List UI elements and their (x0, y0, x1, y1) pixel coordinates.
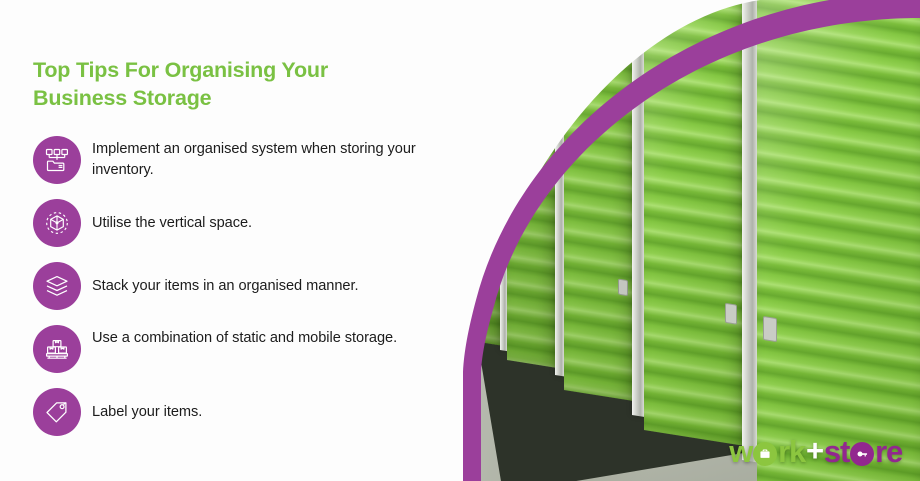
infographic-banner: Top Tips For Organising Your Business St… (0, 0, 920, 481)
work-store-logo[interactable]: w rk + st re (729, 436, 902, 467)
storage-units-photo (470, 0, 920, 481)
door-frame (500, 0, 507, 351)
tips-list: Implement an organised system when stori… (33, 136, 473, 451)
photo-canvas (470, 0, 920, 481)
stacked-layers-icon (33, 262, 81, 310)
roller-door (507, 0, 555, 368)
logo-work-w: w (729, 436, 752, 467)
list-item-label: Stack your items in an organised manner. (92, 276, 359, 297)
key-icon (850, 442, 874, 466)
content-panel: Top Tips For Organising Your Business St… (0, 0, 480, 481)
list-item-label: Implement an organised system when stori… (92, 136, 457, 181)
logo-store-re: re (875, 436, 902, 467)
price-tag-icon (33, 388, 81, 436)
page-title: Top Tips For Organising Your Business St… (33, 56, 413, 112)
door-frame (742, 0, 757, 462)
logo-store-st: st (824, 436, 849, 467)
cube-vertical-space-icon (33, 199, 81, 247)
list-item: Use a combination of static and mobile s… (33, 325, 473, 373)
roller-door (644, 0, 742, 446)
pallet-boxes-icon (33, 325, 81, 373)
logo-plus: + (806, 435, 823, 466)
list-item-label: Utilise the vertical space. (92, 213, 252, 234)
logo-word-store: st re (824, 436, 902, 467)
door-latch (763, 316, 777, 342)
list-item: Utilise the vertical space. (33, 199, 473, 247)
list-item: Stack your items in an organised manner. (33, 262, 473, 310)
door-latch (725, 303, 737, 325)
folder-organisation-icon (33, 136, 81, 184)
briefcase-icon (753, 442, 777, 466)
logo-work-rk: rk (778, 436, 805, 467)
list-item: Implement an organised system when stori… (33, 136, 473, 184)
list-item-label: Label your items. (92, 402, 202, 423)
list-item-label: Use a combination of static and mobile s… (92, 325, 397, 349)
logo-word-work: w rk (729, 436, 805, 467)
roller-door (564, 0, 632, 401)
door-frame (632, 0, 644, 417)
door-latch (618, 279, 628, 297)
list-item: Label your items. (33, 388, 473, 436)
roller-door (757, 0, 920, 481)
door-frame (555, 0, 564, 376)
roller-doors-group (470, 0, 920, 481)
